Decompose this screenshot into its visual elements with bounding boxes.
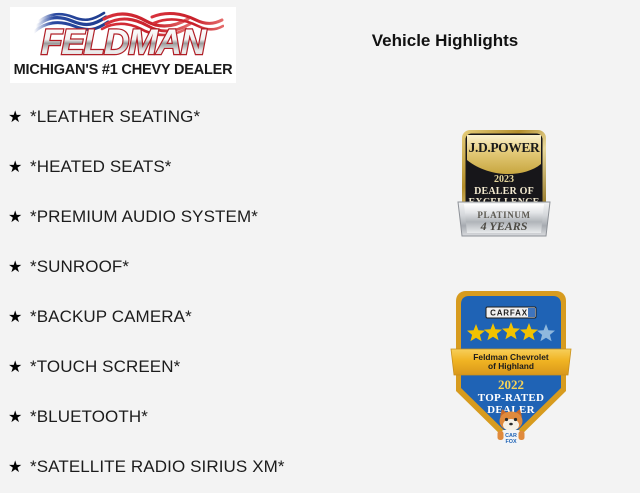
carfax-top-rated-dealer-badge: CARFAX Feldman Chevrolet of Highland 202… bbox=[450, 287, 572, 452]
carfox-label-line2: FOX bbox=[505, 439, 516, 445]
carfax-brand: CARFAX bbox=[490, 309, 528, 318]
highlight-label: *TOUCH SCREEN* bbox=[30, 342, 180, 392]
star-bullet-icon: ★ bbox=[8, 343, 30, 393]
jdpower-award-badge: J.D.POWER 2023 DEALER OF EXCELLENCE PLAT… bbox=[454, 128, 554, 240]
jdpower-year: 2023 bbox=[494, 174, 514, 185]
dealer-logo-wordmark: FELDMAN bbox=[15, 23, 231, 63]
star-bullet-icon: ★ bbox=[8, 193, 30, 243]
star-bullet-icon: ★ bbox=[8, 143, 30, 193]
highlight-label: *BACKUP CAMERA* bbox=[30, 292, 192, 342]
dealer-logo-name: FELDMAN bbox=[41, 23, 207, 62]
list-item: ★ *SATELLITE RADIO SIRIUS XM* bbox=[8, 442, 428, 492]
highlight-label: *SATELLITE RADIO SIRIUS XM* bbox=[30, 442, 285, 492]
dealer-logo: FELDMAN MICHIGAN'S #1 CHEVY DEALER bbox=[10, 7, 236, 83]
list-item: ★ *BLUETOOTH* bbox=[8, 392, 428, 442]
highlight-label: *PREMIUM AUDIO SYSTEM* bbox=[30, 192, 258, 242]
vehicle-highlights-list: ★ *LEATHER SEATING* ★ *HEATED SEATS* ★ *… bbox=[8, 92, 428, 492]
jdpower-duration: 4 YEARS bbox=[480, 219, 528, 233]
list-item: ★ *PREMIUM AUDIO SYSTEM* bbox=[8, 192, 428, 242]
highlight-label: *HEATED SEATS* bbox=[30, 142, 172, 192]
jdpower-award-line1: DEALER OF bbox=[474, 186, 534, 197]
star-bullet-icon: ★ bbox=[8, 93, 30, 143]
highlight-label: *LEATHER SEATING* bbox=[30, 92, 200, 142]
highlight-label: *BLUETOOTH* bbox=[30, 392, 148, 442]
star-bullet-icon: ★ bbox=[8, 243, 30, 293]
carfax-year: 2022 bbox=[498, 377, 524, 392]
list-item: ★ *LEATHER SEATING* bbox=[8, 92, 428, 142]
star-bullet-icon: ★ bbox=[8, 393, 30, 443]
list-item: ★ *SUNROOF* bbox=[8, 242, 428, 292]
list-item: ★ *TOUCH SCREEN* bbox=[8, 342, 428, 392]
carfax-award-line1: TOP-RATED bbox=[478, 392, 544, 404]
carfax-dealer-line2: of Highland bbox=[488, 361, 534, 371]
page-title: Vehicle Highlights bbox=[300, 31, 590, 51]
list-item: ★ *HEATED SEATS* bbox=[8, 142, 428, 192]
star-bullet-icon: ★ bbox=[8, 293, 30, 343]
highlight-label: *SUNROOF* bbox=[30, 242, 129, 292]
list-item: ★ *BACKUP CAMERA* bbox=[8, 292, 428, 342]
dealer-logo-tagline: MICHIGAN'S #1 CHEVY DEALER bbox=[10, 62, 236, 78]
star-bullet-icon: ★ bbox=[8, 443, 30, 493]
jdpower-brand: J.D.POWER bbox=[469, 140, 540, 155]
